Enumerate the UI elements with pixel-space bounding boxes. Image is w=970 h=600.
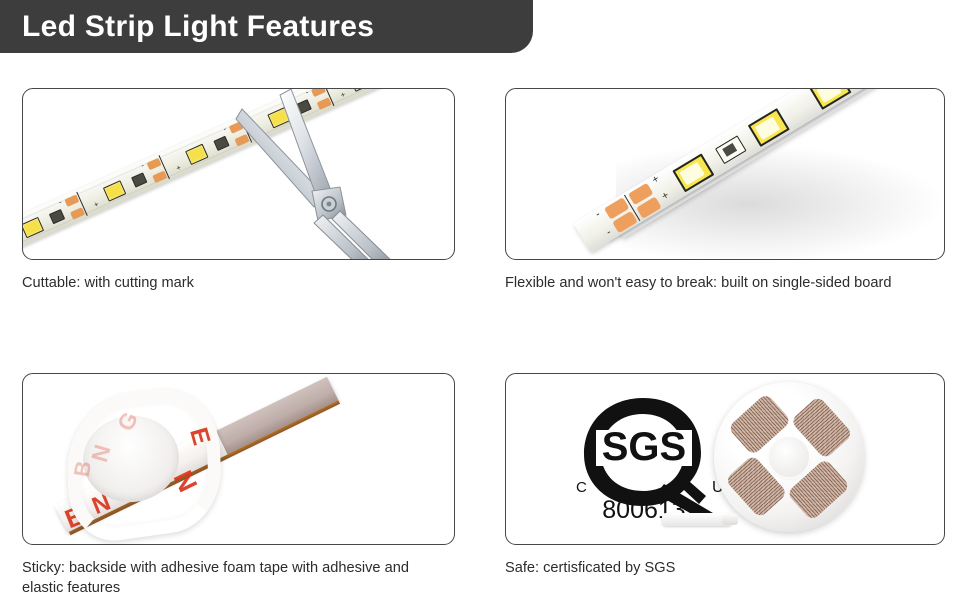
page-title: Led Strip Light Features	[0, 10, 374, 44]
feature-caption-flexible: Flexible and won't easy to break: built …	[505, 273, 925, 293]
scissors-icon	[228, 88, 428, 260]
feature-grid: - + - + - +	[0, 88, 970, 598]
feature-image-sticky: B N G E N G N B	[22, 373, 455, 545]
feature-image-safe: SGS C US 800613	[505, 373, 945, 545]
feature-image-cuttable: - + - + - +	[22, 88, 455, 260]
sgs-left-label: C	[576, 479, 587, 496]
row-spacer	[0, 293, 970, 373]
feature-row-2: B N G E N G N B Sticky: backside with ad…	[0, 373, 970, 598]
feature-item-sticky: B N G E N G N B Sticky: backside with ad…	[0, 373, 485, 598]
feature-item-safe: SGS C US 800613 Safe: certisfic	[485, 373, 970, 598]
led-strip-reel-graphic	[714, 382, 864, 532]
feature-caption-safe: Safe: certisficated by SGS	[505, 558, 925, 578]
page-header-banner: Led Strip Light Features	[0, 0, 533, 53]
feature-caption-cuttable: Cuttable: with cutting mark	[22, 273, 442, 293]
feature-row-1: - + - + - +	[0, 88, 970, 293]
feature-item-cuttable: - + - + - +	[0, 88, 485, 293]
feature-item-flexible: - - + + Flexible and won't easy to break…	[485, 88, 970, 293]
feature-caption-sticky: Sticky: backside with adhesive foam tape…	[22, 558, 442, 598]
sgs-wordmark: SGS	[602, 425, 686, 469]
connector-cable-graphic	[662, 513, 732, 526]
feature-image-flexible: - - + +	[505, 88, 945, 260]
